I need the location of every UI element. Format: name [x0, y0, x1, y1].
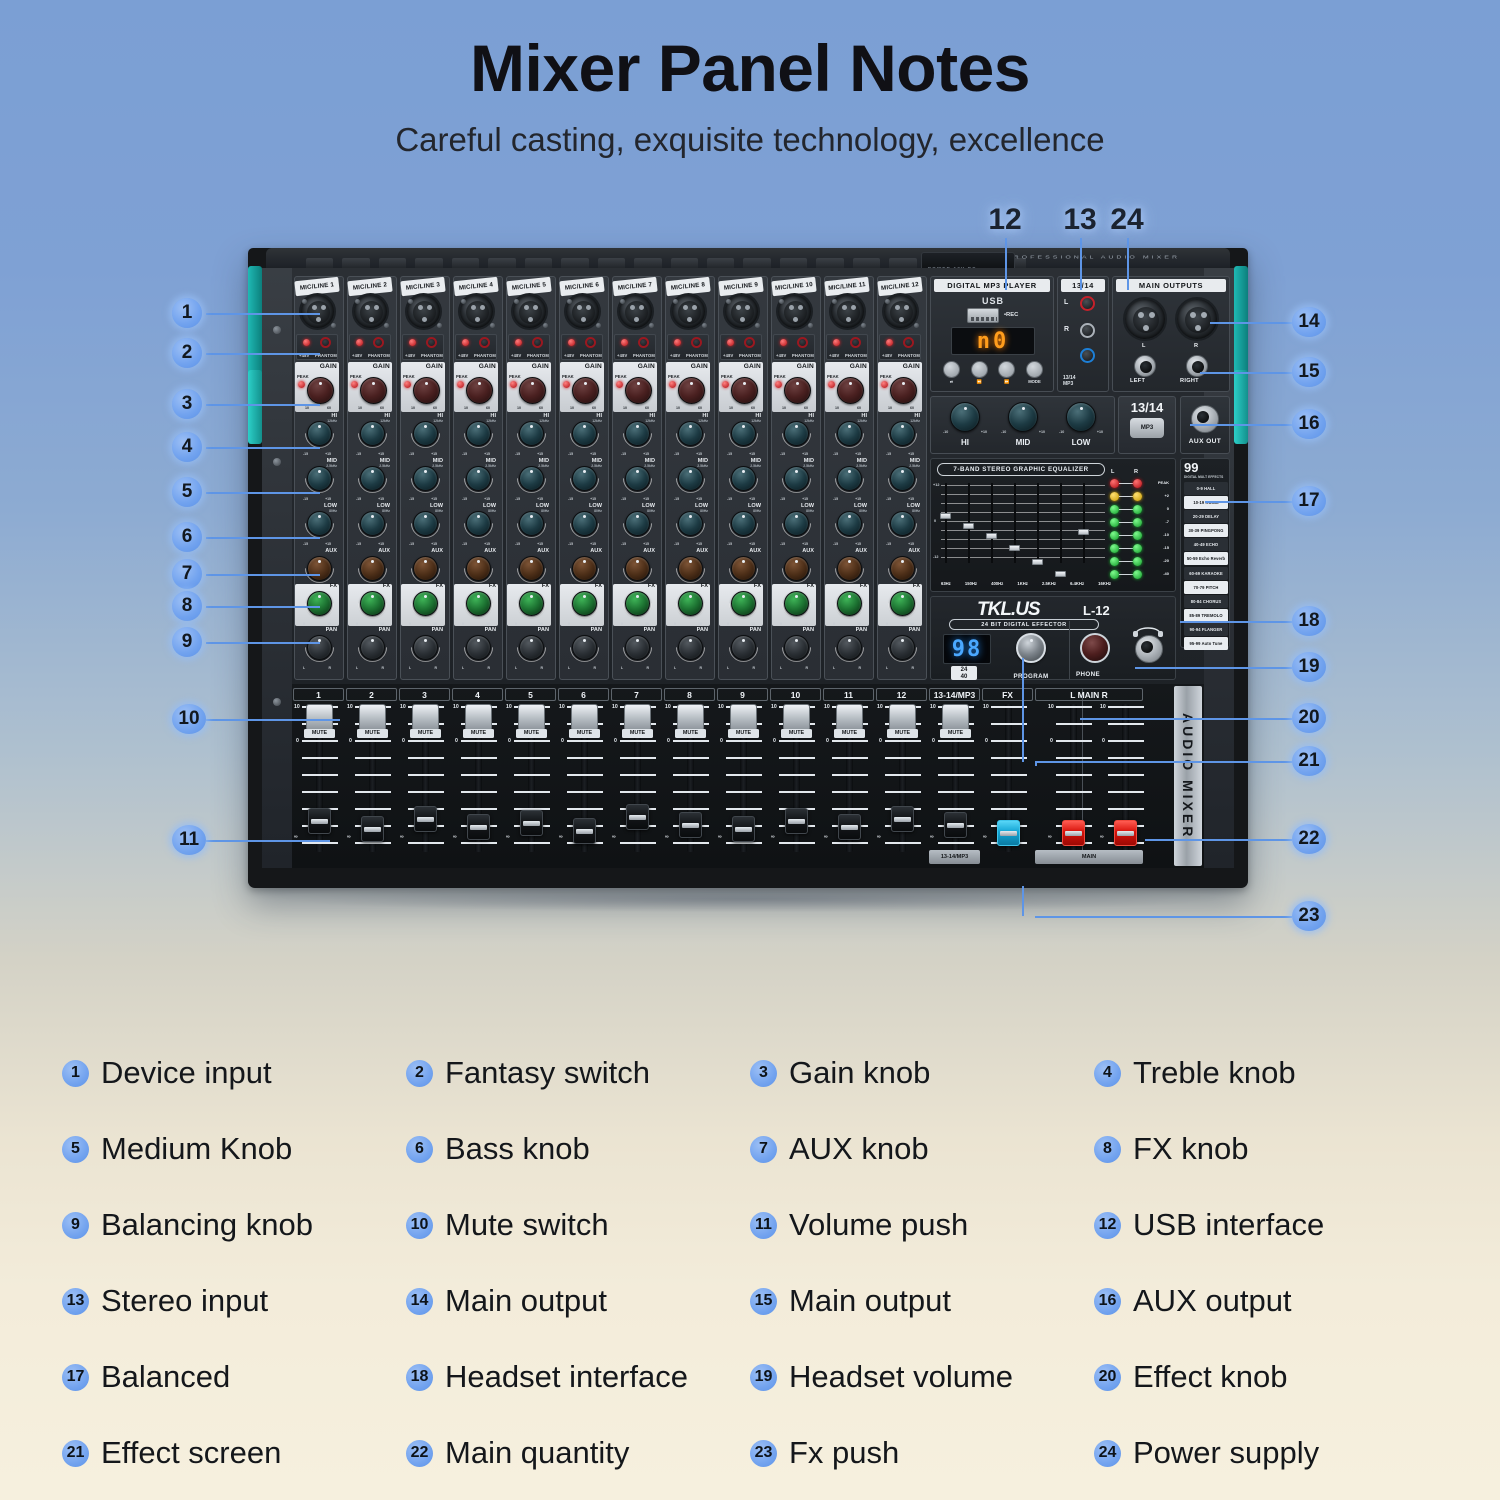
phone-label: PHONE	[1076, 671, 1100, 678]
eq-slider-handle[interactable]	[1078, 529, 1089, 535]
mute-label: MUTE	[622, 729, 653, 738]
aux-knob[interactable]	[307, 556, 332, 581]
fx-knob[interactable]	[678, 591, 703, 616]
gain-knob[interactable]	[731, 377, 758, 404]
gain-knob[interactable]	[784, 377, 811, 404]
pan-knob[interactable]	[360, 635, 385, 660]
device-input-xlr[interactable]	[564, 293, 601, 330]
eq-slider-2.5KHz[interactable]	[1033, 483, 1042, 563]
callout-24: 24	[1101, 202, 1153, 238]
knob-max-label: +15	[643, 497, 649, 501]
volume-push-fader[interactable]	[414, 806, 437, 832]
hi-knob-cell: HI12kHz-15+15	[401, 414, 445, 456]
hi-knob-cell: HI12kHz-15+15	[454, 414, 498, 456]
effect-preset-item: 30-39 PINGPONG	[1184, 524, 1228, 537]
callout-leader-line	[206, 840, 330, 842]
fantasy-switch[interactable]	[903, 337, 914, 348]
aux-knob[interactable]	[837, 556, 862, 581]
aux-knob[interactable]	[890, 556, 915, 581]
screw-icon	[273, 698, 281, 706]
fx-knob[interactable]	[625, 591, 650, 616]
phantom-led-icon	[568, 339, 575, 346]
eq-slider-handle[interactable]	[963, 523, 974, 529]
volume-push-fader[interactable]	[573, 818, 596, 844]
volume-push-fader[interactable]	[1062, 820, 1085, 846]
stereo-input-left-jack[interactable]	[1080, 296, 1095, 311]
fx-knob[interactable]	[466, 591, 491, 616]
mute-switch[interactable]	[942, 704, 969, 731]
level-meters: LRPEAK+20-7-10-15-20-40	[1107, 479, 1169, 587]
knob-max-label: +15	[696, 497, 702, 501]
legend-item-17: 17Balanced	[62, 1339, 406, 1415]
graphic-equalizer-module: 7-BAND STEREO GRAPHIC EQUALIZER +12 0 -1…	[930, 458, 1176, 592]
mp3-button-face[interactable]	[943, 361, 960, 378]
master-knob-min: -10	[943, 430, 948, 434]
hi-knob[interactable]	[413, 421, 438, 446]
low-knob[interactable]	[360, 511, 385, 536]
knob-max-label: +15	[802, 497, 808, 501]
headphone-section: PHONE	[1069, 621, 1173, 679]
peak-led-icon	[404, 381, 411, 388]
eq-slider-handle[interactable]	[1009, 545, 1020, 551]
mute-label: MUTE	[728, 729, 759, 738]
low-knob[interactable]	[413, 511, 438, 536]
mid-knob[interactable]	[890, 466, 915, 491]
fader-scale-bottom: ∞	[824, 834, 828, 840]
gain-knob[interactable]	[413, 377, 440, 404]
hi-knob[interactable]	[625, 421, 650, 446]
callout-8: 8	[172, 591, 202, 621]
meter-row: -20	[1107, 557, 1169, 566]
mid-knob[interactable]	[837, 466, 862, 491]
fx-knob[interactable]	[360, 591, 385, 616]
eq-slider-handle[interactable]	[1055, 571, 1066, 577]
mid-knob[interactable]	[360, 466, 385, 491]
fx-knob[interactable]	[519, 591, 544, 616]
gain-knob[interactable]	[678, 377, 705, 404]
program-knob[interactable]	[1016, 633, 1046, 663]
eq-slider-handle[interactable]	[940, 513, 951, 519]
eq-band-label: 150Hz	[965, 581, 977, 586]
low-knob[interactable]	[466, 511, 491, 536]
fx-knob[interactable]	[572, 591, 597, 616]
volume-push-fader[interactable]	[520, 810, 543, 836]
meter-led-left	[1110, 544, 1119, 553]
knob-min-label: -15	[621, 452, 626, 456]
knob-max-label: 10	[539, 622, 543, 626]
pan-knob[interactable]	[678, 635, 703, 660]
bit-badge-top: 24	[961, 667, 968, 673]
device-input-xlr[interactable]	[776, 293, 813, 330]
gain-knob[interactable]	[466, 377, 493, 404]
phantom-48v-label: +48V	[829, 353, 839, 358]
mp3-button-3[interactable]: ⏩	[998, 361, 1015, 385]
mute-switch[interactable]	[518, 704, 545, 731]
gain-knob[interactable]	[837, 377, 864, 404]
fx-knob-cell: FX010	[348, 584, 392, 626]
pan-knob[interactable]	[784, 635, 809, 660]
hi-knob[interactable]	[890, 421, 915, 446]
side-rail-left	[248, 266, 262, 386]
knob-max-label: +15	[590, 452, 596, 456]
mid-knob[interactable]	[625, 466, 650, 491]
phantom-48v-label: +48V	[882, 353, 892, 358]
callout-leader-line	[1200, 372, 1292, 374]
knob-min-label: -15	[727, 452, 732, 456]
hi-knob[interactable]	[307, 421, 332, 446]
pan-knob[interactable]	[625, 635, 650, 660]
knob-min-label: -15	[727, 497, 732, 501]
phantom-power-row: +48VPHANTOM	[508, 334, 550, 360]
mid-knob[interactable]	[519, 466, 544, 491]
aux-knob[interactable]	[731, 556, 756, 581]
headset-volume-knob[interactable]	[1080, 633, 1110, 663]
eq-slider-6.4KHz[interactable]	[1056, 483, 1065, 563]
legend-label: Stereo input	[101, 1283, 268, 1319]
pan-knob[interactable]	[466, 635, 491, 660]
eq-slider-handle[interactable]	[986, 533, 997, 539]
legend-number-badge: 6	[406, 1136, 433, 1163]
aux-knob[interactable]	[678, 556, 703, 581]
mute-switch[interactable]	[889, 704, 916, 731]
channel-fader-strip: 4100∞MUTE	[451, 688, 504, 864]
side-rail-left-lower	[248, 370, 262, 444]
main-output-xlr-right[interactable]	[1175, 297, 1219, 341]
low-knob[interactable]	[890, 511, 915, 536]
gain-knob[interactable]	[519, 377, 546, 404]
gain-knob[interactable]	[625, 377, 652, 404]
phantom-led-icon	[727, 339, 734, 346]
stereo-input-right-jack[interactable]	[1080, 323, 1095, 338]
pan-knob-label: PAN	[750, 628, 761, 634]
volume-push-fader[interactable]	[838, 814, 861, 840]
fx-knob[interactable]	[413, 591, 438, 616]
gain-label: GAIN	[320, 363, 337, 370]
fader-scale-mid: 0	[349, 738, 352, 744]
meter-scale-label: -10	[1163, 532, 1169, 537]
pan-knob-label: PAN	[485, 628, 496, 634]
aux-knob[interactable]	[413, 556, 438, 581]
volume-push-fader[interactable]	[308, 808, 331, 834]
fx-knob[interactable]	[890, 591, 915, 616]
device-input-xlr[interactable]	[829, 293, 866, 330]
master-hi-knob[interactable]	[950, 402, 980, 432]
fantasy-switch[interactable]	[373, 337, 384, 348]
low-knob[interactable]	[837, 511, 862, 536]
hi-knob[interactable]	[360, 421, 385, 446]
meter-scale-label: -15	[1163, 545, 1169, 550]
effect-preset-item: 80-84 CHORUS	[1184, 595, 1228, 608]
fx-knob-label: FX	[807, 584, 814, 590]
channel-fader-strip: 7100∞MUTE	[610, 688, 663, 864]
mute-switch[interactable]	[836, 704, 863, 731]
mute-label: MUTE	[887, 729, 918, 738]
hi-knob[interactable]	[519, 421, 544, 446]
fantasy-switch[interactable]	[638, 337, 649, 348]
mp3-button-face[interactable]	[1026, 361, 1043, 378]
knob-max-label: R	[858, 666, 861, 670]
callout-5: 5	[172, 477, 202, 507]
mute-switch[interactable]	[783, 704, 810, 731]
mute-label: MUTE	[463, 729, 494, 738]
hi-knob[interactable]	[572, 421, 597, 446]
mute-switch[interactable]	[571, 704, 598, 731]
device-input-xlr[interactable]	[511, 293, 548, 330]
volume-push-fader[interactable]	[1114, 820, 1137, 846]
graphic-eq-band-labels: 63Hz150Hz400Hz1KHz2.5KHz6.4KHz16KHz	[941, 581, 1111, 586]
low-knob-cell: LOW80Hz-15+15	[295, 504, 339, 546]
hi-knob[interactable]	[466, 421, 491, 446]
legend-label: Effect screen	[101, 1435, 281, 1471]
volume-push-fader[interactable]	[891, 806, 914, 832]
page-title: Mixer Panel Notes	[0, 34, 1500, 103]
knob-min-label: -15	[621, 497, 626, 501]
volume-push-fader[interactable]	[732, 816, 755, 842]
knob-max-label: 10	[380, 622, 384, 626]
fantasy-switch[interactable]	[744, 337, 755, 348]
phantom-48v-label: +48V	[670, 353, 680, 358]
gain-knob[interactable]	[360, 377, 387, 404]
volume-push-fader[interactable]	[361, 816, 384, 842]
device-input-xlr[interactable]	[617, 293, 654, 330]
legend-item-12: 12USB interface	[1094, 1187, 1438, 1263]
eq-slider-track	[1060, 483, 1062, 563]
fx-knob[interactable]	[784, 591, 809, 616]
eq-slider-16KHz[interactable]	[1079, 483, 1088, 563]
fantasy-switch[interactable]	[797, 337, 808, 348]
meter-led-right	[1133, 531, 1142, 540]
low-knob[interactable]	[731, 511, 756, 536]
usb-interface[interactable]	[967, 308, 999, 323]
pan-knob[interactable]	[413, 635, 438, 660]
bit-rate-badge: 24 40	[951, 666, 977, 680]
eq-slider-handle[interactable]	[1032, 559, 1043, 565]
mp3-button-4[interactable]: MODE	[1026, 361, 1043, 385]
aux-knob[interactable]	[784, 556, 809, 581]
fx-knob-label: FX	[701, 584, 708, 590]
pan-knob[interactable]	[731, 635, 756, 660]
device-input-xlr[interactable]	[458, 293, 495, 330]
knob-min-label: -15	[727, 542, 732, 546]
eq-slider-400Hz[interactable]	[987, 483, 996, 563]
gain-block: GAINPEAK1060	[454, 362, 498, 412]
fantasy-switch[interactable]	[532, 337, 543, 348]
headset-interface-jack[interactable]	[1135, 635, 1163, 663]
device-input-xlr[interactable]	[723, 293, 760, 330]
mid-knob-cell: MID2.5kHz-15+15	[772, 459, 816, 501]
mid-knob[interactable]	[413, 466, 438, 491]
knob-min-label: -15	[409, 497, 414, 501]
mid-knob[interactable]	[466, 466, 491, 491]
aux-knob[interactable]	[360, 556, 385, 581]
legend-number-badge: 2	[406, 1060, 433, 1087]
fantasy-switch[interactable]	[585, 337, 596, 348]
legend-label: USB interface	[1133, 1207, 1324, 1243]
phantom-power-row: +48VPHANTOM	[614, 334, 656, 360]
stereo-left-label: L	[1064, 299, 1068, 306]
eq-slider-1KHz[interactable]	[1010, 483, 1019, 563]
fantasy-switch[interactable]	[426, 337, 437, 348]
knob-min-label: 0	[568, 622, 570, 626]
legend-item-16: 16AUX output	[1094, 1263, 1438, 1339]
hi-knob[interactable]	[678, 421, 703, 446]
legend-label: Fx push	[789, 1435, 899, 1471]
gain-block: GAINPEAK1060	[878, 362, 922, 412]
eq-slider-track	[991, 483, 993, 563]
mp3-button-1[interactable]: ⏯	[943, 361, 960, 385]
phantom-48v-label: +48V	[405, 353, 415, 358]
mp3-module-title: DIGITAL MP3 PLAYER	[934, 279, 1050, 292]
gain-label: GAIN	[638, 363, 655, 370]
gain-knob[interactable]	[890, 377, 917, 404]
mid-knob[interactable]	[307, 466, 332, 491]
callout-leader-line	[1035, 916, 1292, 918]
legend-label: Mute switch	[445, 1207, 609, 1243]
fx-knob[interactable]	[307, 591, 332, 616]
eq-slider-63Hz[interactable]	[941, 483, 950, 563]
aux-knob[interactable]	[625, 556, 650, 581]
mp3-button-2[interactable]: ⏪	[971, 361, 988, 385]
hi-knob[interactable]	[731, 421, 756, 446]
legend-item-1: 1Device input	[62, 1035, 406, 1111]
aux-knob-label: AUX	[802, 549, 814, 555]
hi-knob[interactable]	[784, 421, 809, 446]
mid-knob-cell: MID2.5kHz-15+15	[401, 459, 445, 501]
low-knob[interactable]	[519, 511, 544, 536]
eq-slider-150Hz[interactable]	[964, 483, 973, 563]
jack-right-label: RIGHT	[1180, 378, 1199, 384]
fantasy-switch[interactable]	[479, 337, 490, 348]
mp3-button-face[interactable]	[998, 361, 1015, 378]
fader-scale-top: 10	[294, 704, 300, 710]
pan-knob[interactable]	[890, 635, 915, 660]
master-low-knob[interactable]	[1066, 402, 1096, 432]
pan-knob[interactable]	[519, 635, 544, 660]
mid-knob[interactable]	[678, 466, 703, 491]
main-output-xlr-left[interactable]	[1123, 297, 1167, 341]
hi-knob[interactable]	[837, 421, 862, 446]
volume-push-fader[interactable]	[944, 812, 967, 838]
pan-knob[interactable]	[307, 635, 332, 660]
mute-switch[interactable]	[677, 704, 704, 731]
mute-switch[interactable]	[306, 704, 333, 731]
fader-label: 1	[293, 688, 344, 701]
legend-label: Main output	[445, 1283, 607, 1319]
callout-1: 1	[172, 298, 202, 328]
eq-slider-track	[1083, 483, 1085, 563]
callout-leader-line	[1145, 839, 1292, 841]
mid-knob-cell: MID2.5kHz-15+15	[666, 459, 710, 501]
master-mid-knob[interactable]	[1008, 402, 1038, 432]
mp3-button-face[interactable]	[971, 361, 988, 378]
fx-knob[interactable]	[731, 591, 756, 616]
volume-push-fader[interactable]	[626, 804, 649, 830]
mute-switch[interactable]	[624, 704, 651, 731]
device-input-xlr[interactable]	[405, 293, 442, 330]
fader-scale-mid: 0	[720, 738, 723, 744]
pan-knob[interactable]	[837, 635, 862, 660]
phantom-48v-label: +48V	[564, 353, 574, 358]
meter-row: 0	[1107, 505, 1169, 514]
gain-label: GAIN	[373, 363, 390, 370]
meter-led-right	[1133, 557, 1142, 566]
aux-knob[interactable]	[466, 556, 491, 581]
legend-item-24: 24Power supply	[1094, 1415, 1438, 1491]
fantasy-switch[interactable]	[850, 337, 861, 348]
fx-knob-label: FX	[648, 584, 655, 590]
mute-switch[interactable]	[359, 704, 386, 731]
volume-push-fader[interactable]	[997, 820, 1020, 846]
callout-17: 17	[1292, 486, 1326, 516]
fantasy-switch[interactable]	[691, 337, 702, 348]
page-header: Mixer Panel Notes Careful casting, exqui…	[0, 0, 1500, 159]
master-knob-max: +10	[981, 430, 987, 434]
effect-preset-item: 95-99 Auto Tune	[1184, 637, 1228, 650]
mp3-button-label: ⏪	[971, 379, 988, 385]
program-control[interactable]: PROGRAM	[1005, 633, 1057, 680]
device-input-xlr[interactable]	[670, 293, 707, 330]
device-input-xlr[interactable]	[882, 293, 919, 330]
source-select-jack[interactable]	[1080, 348, 1095, 363]
mid-knob[interactable]	[731, 466, 756, 491]
phantom-label: PHANTOM	[527, 353, 549, 358]
aux-output-jack[interactable]	[1191, 405, 1219, 433]
meter-led-left	[1110, 492, 1119, 501]
volume-push-fader[interactable]	[467, 814, 490, 840]
main-output-jack-left[interactable]	[1134, 355, 1156, 377]
brand-logo: TKL.US	[977, 599, 1040, 621]
volume-push-fader[interactable]	[679, 812, 702, 838]
fantasy-switch[interactable]	[320, 337, 331, 348]
fx-knob-label: FX	[542, 584, 549, 590]
knob-min-label: L	[462, 666, 464, 670]
low-knob[interactable]	[572, 511, 597, 536]
meter-led-left	[1110, 531, 1119, 540]
fader-bottom-tag: MAIN	[1035, 850, 1143, 864]
xlr-right-label: R	[1194, 343, 1198, 349]
low-knob[interactable]	[307, 511, 332, 536]
knob-max-label: R	[646, 666, 649, 670]
gain-block: GAINPEAK1060	[825, 362, 869, 412]
aux-knob[interactable]	[572, 556, 597, 581]
mute-switch[interactable]	[412, 704, 439, 731]
device-input-xlr[interactable]	[352, 293, 389, 330]
low-knob[interactable]	[678, 511, 703, 536]
meter-row: -7	[1107, 518, 1169, 527]
mid-knob[interactable]	[784, 466, 809, 491]
mute-switch[interactable]	[730, 704, 757, 731]
gain-knob[interactable]	[572, 377, 599, 404]
device-input-xlr[interactable]	[299, 293, 336, 330]
peak-led-icon	[722, 381, 729, 388]
volume-push-fader[interactable]	[785, 808, 808, 834]
aux-knob[interactable]	[519, 556, 544, 581]
fx-knob[interactable]	[837, 591, 862, 616]
source-option-mp3: MP3	[1063, 381, 1073, 387]
low-knob[interactable]	[784, 511, 809, 536]
low-knob[interactable]	[625, 511, 650, 536]
gain-knob[interactable]	[307, 377, 334, 404]
mid-knob[interactable]	[572, 466, 597, 491]
knob-min-label: L	[568, 666, 570, 670]
gain-block: GAINPEAK1060	[401, 362, 445, 412]
graphic-eq-title: 7-BAND STEREO GRAPHIC EQUALIZER	[937, 463, 1105, 476]
fx-knob-cell: FX010	[613, 584, 657, 626]
mute-switch[interactable]	[465, 704, 492, 731]
fader-scale-top: 10	[983, 704, 989, 710]
pan-knob-cell: PANLR	[454, 628, 498, 670]
pan-knob[interactable]	[572, 635, 597, 660]
